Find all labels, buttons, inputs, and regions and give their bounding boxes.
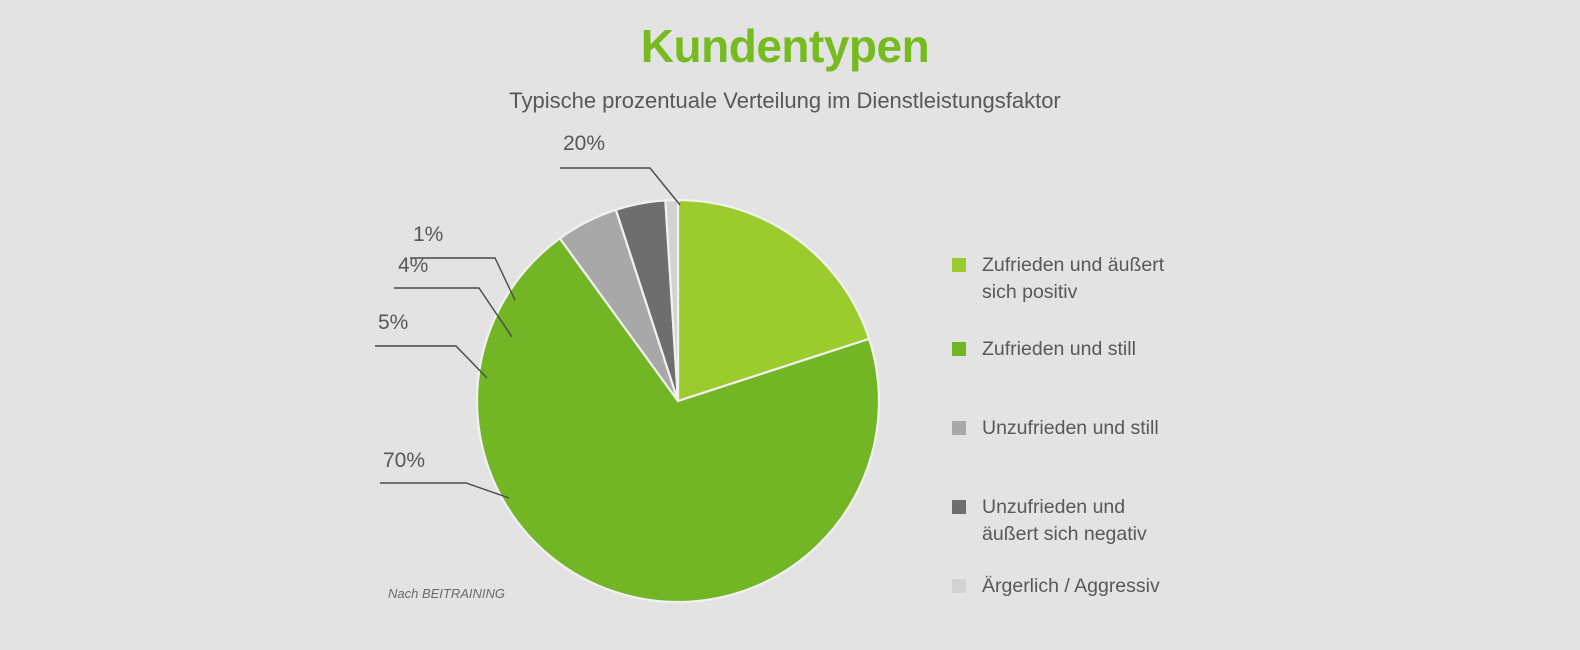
leader-line-5 (375, 346, 487, 378)
pct-label-1: 1% (413, 224, 443, 245)
pct-label-5: 5% (378, 312, 408, 333)
legend-item-label: Zufrieden und äußert sich positiv (982, 252, 1164, 306)
pct-label-20: 20% (563, 133, 605, 154)
legend-swatch-icon (952, 579, 966, 593)
leader-line-20 (560, 168, 680, 205)
pct-label-70: 70% (383, 450, 425, 471)
legend-item-label: Ärgerlich / Aggressiv (982, 573, 1160, 600)
chart-legend: Zufrieden und äußert sich positivZufried… (952, 252, 1252, 600)
legend-swatch-icon (952, 342, 966, 356)
chart-canvas: Kundentypen Typische prozentuale Verteil… (0, 0, 1580, 650)
leader-line-70 (380, 483, 509, 498)
source-note: Nach BEITRAINING (388, 586, 505, 601)
legend-swatch-icon (952, 421, 966, 435)
legend-item-label: Unzufrieden und still (982, 415, 1159, 442)
pie-slices (477, 200, 879, 602)
legend-item-label: Zufrieden und still (982, 336, 1136, 363)
chart-subtitle: Typische prozentuale Verteilung im Diens… (470, 86, 1100, 115)
legend-swatch-icon (952, 258, 966, 272)
legend-swatch-icon (952, 500, 966, 514)
legend-item-label: Unzufrieden und äußert sich negativ (982, 494, 1147, 548)
legend-item[interactable]: Zufrieden und still (952, 336, 1252, 363)
page-title: Kundentypen (470, 22, 1100, 70)
legend-item[interactable]: Unzufrieden und äußert sich negativ (952, 494, 1252, 548)
pct-label-4: 4% (398, 255, 428, 276)
legend-item[interactable]: Unzufrieden und still (952, 415, 1252, 442)
legend-item[interactable]: Ärgerlich / Aggressiv (952, 573, 1252, 600)
legend-item[interactable]: Zufrieden und äußert sich positiv (952, 252, 1252, 306)
